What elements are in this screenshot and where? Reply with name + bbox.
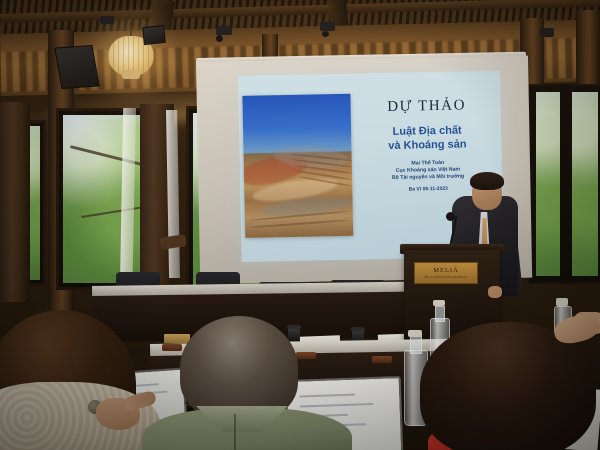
tree-branch (81, 206, 145, 218)
coaster (296, 352, 316, 359)
tree-branch (70, 145, 150, 168)
track-light-icon (540, 28, 554, 37)
shirt-seam (234, 414, 236, 450)
track-light-icon (216, 35, 223, 42)
open-pit-mine-photo (242, 94, 353, 238)
desk-microphone-icon (287, 325, 301, 329)
track-light-icon (216, 26, 232, 35)
water-bottle-neck (410, 336, 422, 354)
lantern-cap (122, 70, 140, 79)
track-light-icon (322, 31, 329, 37)
venue-brand-name: MELIÁ (433, 267, 459, 274)
track-light-icon (320, 22, 335, 31)
water-bottle-neck (435, 306, 445, 322)
window-mullion (560, 84, 569, 280)
window-glass (572, 92, 598, 276)
slide-subtitle-line2: và Khoáng sản (355, 137, 499, 154)
ceiling-speaker-icon (54, 45, 99, 89)
venue-sub-name: BA VI MOUNTAIN RETREAT (425, 275, 468, 279)
presentation-room-photo: DỰ THẢO Luật Địa chất và Khoáng sản Mai … (0, 0, 600, 450)
water-bottle-cap (556, 298, 568, 306)
ceiling-speaker-icon (142, 25, 166, 45)
slide-subtitle: Luật Địa chất và Khoáng sản (355, 123, 500, 154)
coaster (162, 344, 182, 351)
water-bottle-cap (433, 300, 445, 306)
slide-heading: DỰ THẢO (356, 97, 496, 117)
name-plate (164, 334, 190, 343)
curtain (0, 102, 30, 302)
track-light-icon (100, 16, 114, 24)
podium-microphone-icon (446, 212, 455, 221)
water-bottle-cap (408, 330, 422, 337)
foreground-man-center (180, 316, 298, 420)
desk-microphone-icon (351, 327, 365, 331)
venue-plaque: MELIÁ BA VI MOUNTAIN RETREAT (414, 262, 478, 284)
presenter-hair (470, 172, 504, 190)
coaster (372, 356, 392, 363)
window-glass (536, 92, 562, 276)
desk-microphone-icon (288, 328, 300, 342)
presenter-hand (488, 286, 502, 298)
